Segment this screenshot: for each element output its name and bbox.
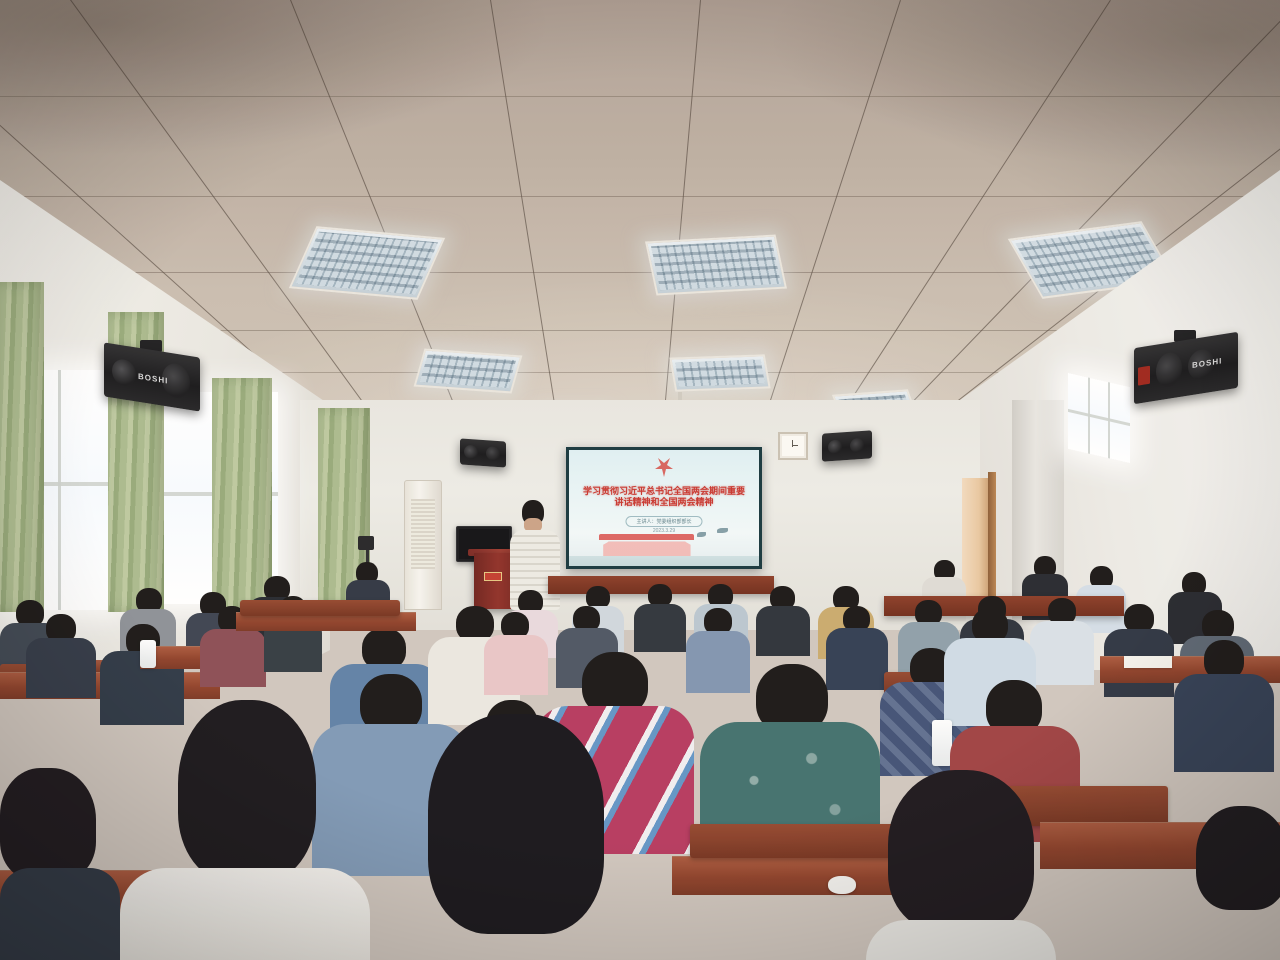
slide-ground-band xyxy=(569,556,759,566)
front-wall-speaker-left xyxy=(460,438,506,467)
woman-white-sweater-foreground xyxy=(120,700,370,960)
floor-standing-air-conditioner xyxy=(404,480,442,610)
tripod-camera xyxy=(358,536,374,550)
conference-room-photo: BOSHI BOSHI 学习贯彻习近平总书记全国两会期间重要 讲话精神 xyxy=(0,0,1280,960)
slide-title-line1: 学习贯彻习近平总书记全国两会期间重要 xyxy=(575,486,753,497)
tiananmen-roof xyxy=(599,534,694,540)
cpc-party-emblem-icon xyxy=(651,456,677,480)
window-right xyxy=(1068,373,1130,463)
woman-long-hair-foreground xyxy=(400,714,630,960)
slide-subtitle: 主讲人：党委组织部部长 xyxy=(625,516,702,527)
dove-icon xyxy=(717,528,728,533)
open-door-right-wall[interactable] xyxy=(962,478,990,602)
projection-screen: 学习贯彻习近平总书记全国两会期间重要 讲话精神和全国两会精神 主讲人：党委组织部… xyxy=(566,447,762,569)
attendee-foreground-left-edge xyxy=(0,768,120,960)
slide-title-line2: 讲话精神和全国两会精神 xyxy=(575,497,753,508)
long-dark-hair xyxy=(888,770,1034,932)
water-bottle-on-desk xyxy=(932,720,952,766)
door-edge xyxy=(988,472,996,604)
attendee xyxy=(634,584,686,650)
front-wall-speaker-right xyxy=(822,430,872,461)
water-bottle-on-desk xyxy=(140,640,156,668)
woman-navy-blouse xyxy=(1174,640,1274,770)
podium-emblem-plate xyxy=(484,572,502,581)
papers-on-desk xyxy=(1124,656,1172,668)
attendee xyxy=(26,614,96,698)
ceiling-light-fixture xyxy=(289,226,445,300)
attendee xyxy=(1030,598,1094,684)
curtain-left-1 xyxy=(0,282,44,612)
long-dark-hair xyxy=(178,700,316,882)
ceiling-light-fixture xyxy=(645,235,787,296)
wall-clock xyxy=(778,432,808,460)
slide-title: 学习贯彻习近平总书记全国两会期间重要 讲话精神和全国两会精神 xyxy=(575,486,753,508)
woman-dark-hair-foreground-right xyxy=(866,770,1056,960)
long-dark-hair xyxy=(428,714,604,934)
bench-back xyxy=(240,600,400,616)
ceiling-light-fixture xyxy=(669,354,770,391)
dove-icon xyxy=(697,532,706,537)
ceiling-light-fixture xyxy=(414,349,523,394)
attendee xyxy=(756,586,810,654)
attendee-foreground-right-edge xyxy=(1186,806,1280,960)
white-mouse-on-desk xyxy=(828,876,856,894)
